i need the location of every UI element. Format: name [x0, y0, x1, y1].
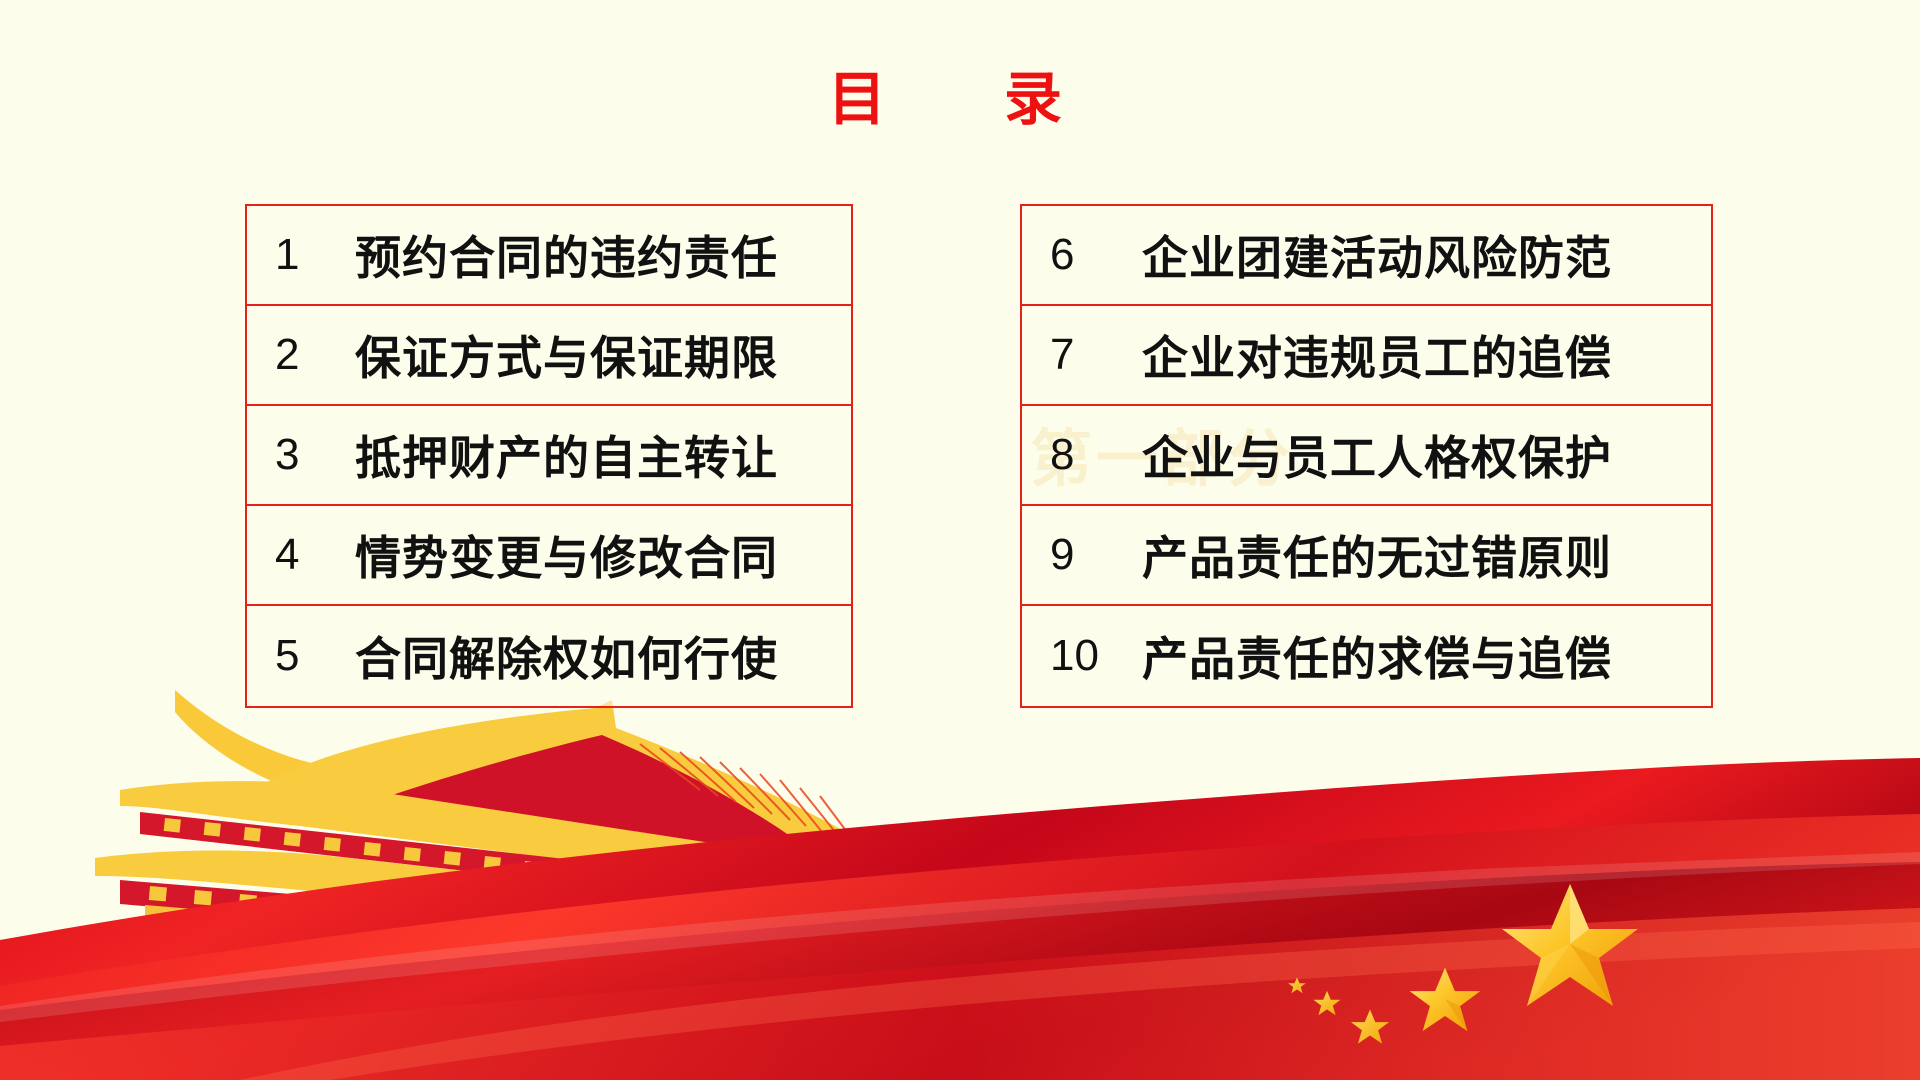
star-5 — [1288, 977, 1306, 993]
toc-item-number: 5 — [275, 631, 331, 681]
toc-item-8[interactable]: 8 企业与员工人格权保护 — [1022, 406, 1711, 506]
toc-item-label: 产品责任的求偿与追偿 — [1142, 623, 1612, 689]
toc-item-number: 6 — [1050, 230, 1124, 280]
toc-item-3[interactable]: 3 抵押财产的自主转让 — [247, 406, 851, 506]
toc-item-label: 情势变更与修改合同 — [355, 522, 778, 588]
toc-item-number: 9 — [1050, 530, 1124, 580]
slide-canvas: 第一部分 目 录 1 预约合同的违约责任 2 保证方式与保证期限 3 抵押财产的… — [0, 0, 1920, 1080]
toc-item-2[interactable]: 2 保证方式与保证期限 — [247, 306, 851, 406]
toc-item-number: 8 — [1050, 430, 1124, 480]
toc-left-table: 1 预约合同的违约责任 2 保证方式与保证期限 3 抵押财产的自主转让 4 情势… — [245, 204, 853, 708]
toc-item-number: 3 — [275, 430, 331, 480]
page-title: 目 录 — [0, 52, 1920, 136]
star-3 — [1351, 1010, 1389, 1044]
toc-item-5[interactable]: 5 合同解除权如何行使 — [247, 606, 851, 706]
toc-item-number: 2 — [275, 330, 331, 380]
toc-item-label: 抵押财产的自主转让 — [355, 422, 778, 488]
toc-item-label: 保证方式与保证期限 — [355, 322, 778, 388]
toc-item-label: 企业与员工人格权保护 — [1142, 422, 1612, 488]
toc-item-number: 10 — [1050, 631, 1124, 681]
toc-item-label: 预约合同的违约责任 — [355, 222, 778, 288]
toc-item-10[interactable]: 10 产品责任的求偿与追偿 — [1022, 606, 1711, 706]
red-silk-ribbon — [0, 758, 1920, 1080]
gate-banner-left — [256, 948, 382, 976]
toc-item-7[interactable]: 7 企业对违规员工的追偿 — [1022, 306, 1711, 406]
toc-item-4[interactable]: 4 情势变更与修改合同 — [247, 506, 851, 606]
gate-banner-right — [457, 962, 552, 986]
toc-item-6[interactable]: 6 企业团建活动风险防范 — [1022, 206, 1711, 306]
star-1 — [1502, 884, 1638, 1006]
toc-item-9[interactable]: 9 产品责任的无过错原则 — [1022, 506, 1711, 606]
star-4 — [1313, 991, 1340, 1015]
toc-item-number: 1 — [275, 230, 331, 280]
toc-item-label: 产品责任的无过错原则 — [1142, 522, 1612, 588]
gold-stars-group — [1288, 884, 1638, 1044]
tiananmen-gate-illustration — [95, 690, 1360, 1014]
toc-item-label: 企业团建活动风险防范 — [1142, 222, 1612, 288]
toc-item-number: 7 — [1050, 330, 1124, 380]
toc-item-label: 企业对违规员工的追偿 — [1142, 322, 1612, 388]
page-title-text: 目 录 — [828, 65, 1092, 133]
toc-item-label: 合同解除权如何行使 — [355, 623, 778, 689]
toc-right-table: 6 企业团建活动风险防范 7 企业对违规员工的追偿 8 企业与员工人格权保护 9… — [1020, 204, 1713, 708]
toc-item-1[interactable]: 1 预约合同的违约责任 — [247, 206, 851, 306]
star-2 — [1410, 968, 1481, 1031]
toc-item-number: 4 — [275, 530, 331, 580]
